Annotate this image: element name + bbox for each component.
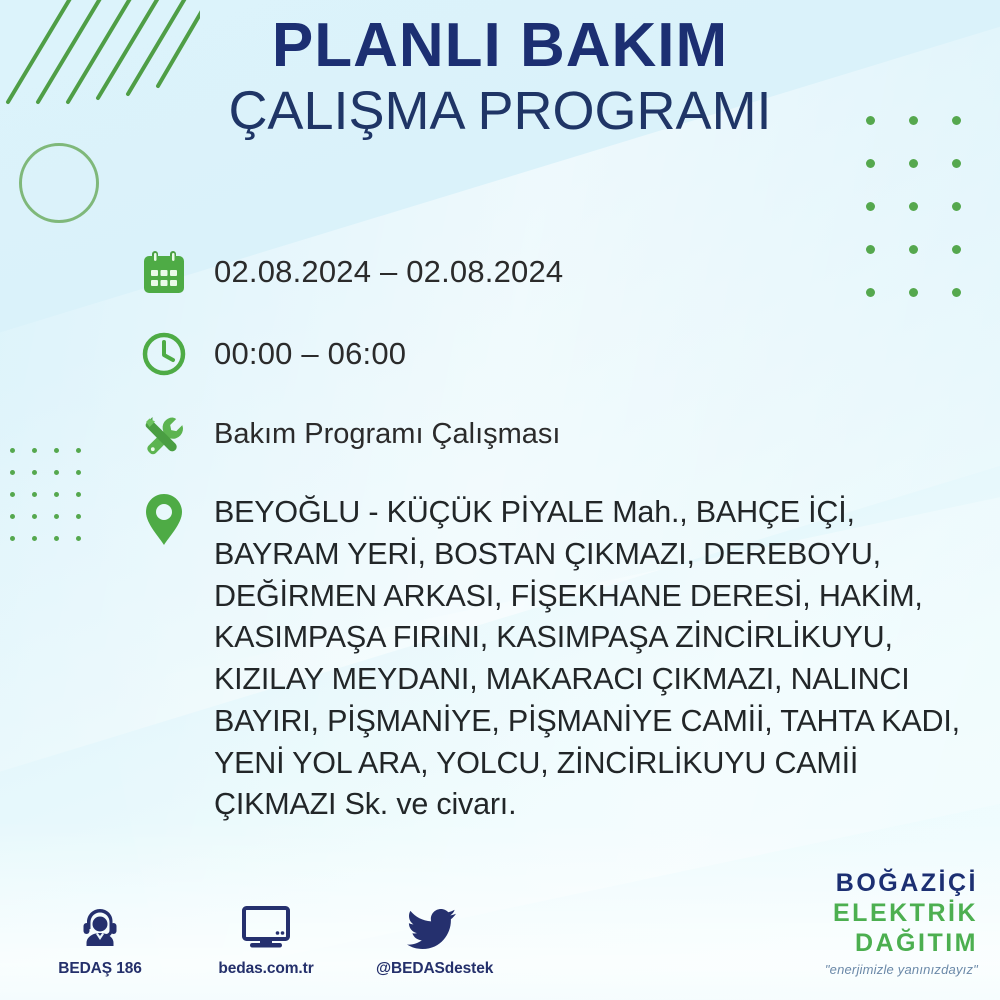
work-type-value: Bakım Programı Çalışması: [192, 408, 560, 453]
logo-line-dagitim: DAĞITIM: [825, 931, 978, 956]
decorative-dot: [952, 202, 961, 211]
decorative-dot: [909, 159, 918, 168]
maintenance-details: 02.08.2024 – 02.08.2024 00:00 – 06:00: [136, 244, 976, 826]
calendar-icon: [136, 244, 192, 300]
logo-tagline: "enerjimizle yanınızdayız": [825, 963, 978, 976]
decorative-dot: [10, 514, 15, 519]
affected-area-value: BEYOĞLU - KÜÇÜK PİYALE Mah., BAHÇE İÇİ, …: [192, 490, 976, 826]
outline-circle-decoration: [19, 143, 99, 223]
decorative-dot: [32, 448, 37, 453]
detail-row-work-type: Bakım Programı Çalışması: [136, 408, 976, 464]
bedas-logo: BOĞAZİÇİ ELEKTRİK DAĞITIM "enerjimizle y…: [825, 871, 978, 976]
decorative-dot: [10, 536, 15, 541]
decorative-dot: [32, 536, 37, 541]
contact-label: @BEDASdestek: [376, 960, 488, 978]
contact-label: bedas.com.tr: [210, 960, 322, 978]
decorative-dot: [866, 159, 875, 168]
decorative-dot: [10, 448, 15, 453]
headset-support-icon: [44, 898, 156, 950]
detail-row-time: 00:00 – 06:00: [136, 326, 976, 382]
decorative-dot: [76, 470, 81, 475]
decorative-dot: [952, 159, 961, 168]
logo-line-elektrik: ELEKTRİK: [825, 901, 978, 926]
tools-icon: [136, 408, 192, 464]
decorative-dot: [54, 470, 59, 475]
footer-contacts: BEDAŞ 186 bedas.com.tr @BEDASdestek: [44, 898, 488, 978]
twitter-bird-icon: [376, 898, 488, 950]
decorative-dot: [54, 492, 59, 497]
decorative-dot: [32, 492, 37, 497]
detail-row-affected-area: BEYOĞLU - KÜÇÜK PİYALE Mah., BAHÇE İÇİ, …: [136, 490, 976, 826]
decorative-dot: [76, 536, 81, 541]
planned-maintenance-poster: PLANLI BAKIM ÇALIŞMA PROGRAMI: [0, 0, 1000, 1000]
decorative-dot: [32, 514, 37, 519]
location-pin-icon: [136, 490, 192, 548]
contact-website[interactable]: bedas.com.tr: [210, 898, 322, 978]
decorative-dot: [54, 448, 59, 453]
decorative-dot: [54, 536, 59, 541]
decorative-dot: [76, 514, 81, 519]
contact-call-center[interactable]: BEDAŞ 186: [44, 898, 156, 978]
decorative-dot: [10, 492, 15, 497]
page-title: PLANLI BAKIM: [0, 14, 1000, 77]
poster-header: PLANLI BAKIM ÇALIŞMA PROGRAMI: [0, 14, 1000, 142]
decorative-dot: [866, 202, 875, 211]
contact-label: BEDAŞ 186: [44, 960, 156, 978]
decorative-dot: [54, 514, 59, 519]
decorative-dot: [909, 202, 918, 211]
date-range-value: 02.08.2024 – 02.08.2024: [192, 244, 563, 292]
decorative-dot: [76, 448, 81, 453]
logo-line-bogazici: BOĞAZİÇİ: [825, 871, 978, 896]
page-subtitle: ÇALIŞMA PROGRAMI: [0, 81, 1000, 141]
dot-grid-left-decoration: [10, 448, 100, 548]
decorative-dot: [32, 470, 37, 475]
monitor-website-icon: [210, 898, 322, 950]
contact-twitter[interactable]: @BEDASdestek: [376, 898, 488, 978]
decorative-dot: [76, 492, 81, 497]
time-range-value: 00:00 – 06:00: [192, 326, 406, 374]
detail-row-date: 02.08.2024 – 02.08.2024: [136, 244, 976, 300]
clock-icon: [136, 326, 192, 382]
decorative-dot: [10, 470, 15, 475]
